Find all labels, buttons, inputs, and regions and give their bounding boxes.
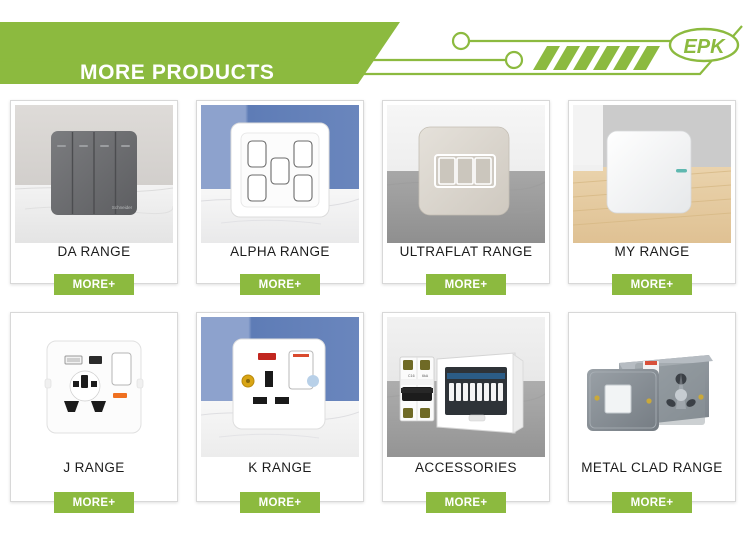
header-circle-upper — [453, 33, 469, 49]
product-row: J RANGE MORE+ — [0, 308, 750, 528]
product-card-my-range[interactable]: MY RANGE MORE+ — [568, 100, 736, 284]
more-button[interactable]: MORE+ — [612, 274, 692, 295]
product-image-da-range: Schneider — [15, 105, 173, 243]
product-image-j-range — [15, 317, 173, 457]
product-title: DA RANGE — [11, 244, 177, 259]
product-title: MY RANGE — [569, 244, 735, 259]
product-card-metal-clad-range[interactable]: METAL CLAD RANGE MORE+ — [568, 312, 736, 502]
product-card-alpha-range[interactable]: ALPHA RANGE MORE+ — [196, 100, 364, 284]
product-image-alpha-range — [201, 105, 359, 243]
product-card-da-range[interactable]: Schneider DA RANGE MORE+ — [10, 100, 178, 284]
page-root: EPK MORE PRODUCTS — [0, 0, 750, 554]
svg-text:C16: C16 — [408, 374, 415, 378]
product-image-metal-clad-range — [573, 317, 731, 457]
product-image-accessories: C16 6kA — [387, 317, 545, 457]
product-title: ALPHA RANGE — [197, 244, 363, 259]
header-stripes — [533, 46, 660, 70]
svg-text:Schneider: Schneider — [112, 205, 133, 210]
product-row: Schneider DA RANGE MORE+ — [0, 96, 750, 308]
header-circle-lower — [506, 52, 522, 68]
more-button[interactable]: MORE+ — [240, 492, 320, 513]
product-grid: Schneider DA RANGE MORE+ — [0, 96, 750, 528]
product-card-accessories[interactable]: C16 6kA — [382, 312, 550, 502]
product-card-k-range[interactable]: K RANGE MORE+ — [196, 312, 364, 502]
product-image-ultraflat-range — [387, 105, 545, 243]
page-header: EPK MORE PRODUCTS — [0, 22, 750, 84]
more-button[interactable]: MORE+ — [426, 274, 506, 295]
product-title: K RANGE — [197, 460, 363, 475]
product-image-k-range — [201, 317, 359, 457]
product-title: METAL CLAD RANGE — [569, 460, 735, 475]
product-image-my-range — [573, 105, 731, 243]
epk-logo-text: EPK — [683, 36, 726, 58]
product-card-ultraflat-range[interactable]: ULTRAFLAT RANGE MORE+ — [382, 100, 550, 284]
more-button[interactable]: MORE+ — [54, 274, 134, 295]
product-card-j-range[interactable]: J RANGE MORE+ — [10, 312, 178, 502]
more-button[interactable]: MORE+ — [612, 492, 692, 513]
product-title: ULTRAFLAT RANGE — [383, 244, 549, 259]
svg-text:6kA: 6kA — [422, 374, 429, 378]
more-button[interactable]: MORE+ — [240, 274, 320, 295]
more-button[interactable]: MORE+ — [54, 492, 134, 513]
page-title: MORE PRODUCTS — [80, 62, 274, 83]
product-title: J RANGE — [11, 460, 177, 475]
product-title: ACCESSORIES — [383, 460, 549, 475]
more-button[interactable]: MORE+ — [426, 492, 506, 513]
